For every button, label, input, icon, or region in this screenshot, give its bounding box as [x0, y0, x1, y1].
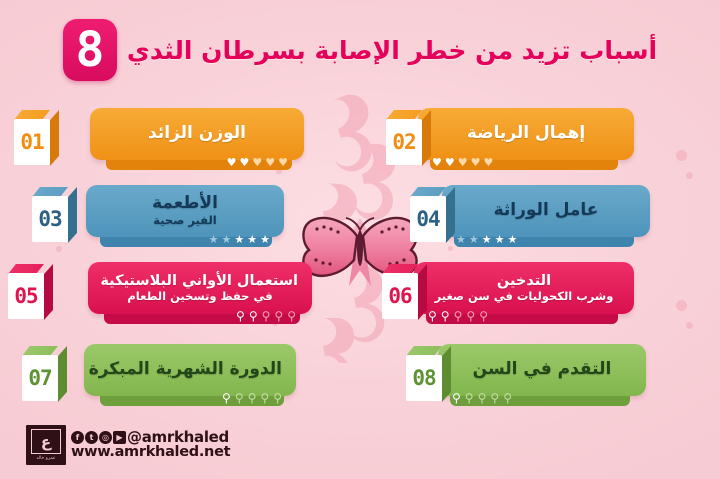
card-number: 02 [386, 119, 422, 165]
card-title: إهمال الرياضة [432, 125, 620, 143]
social-handle[interactable]: @amrkhaled [127, 430, 229, 445]
person-icon: ⚲ [262, 310, 271, 322]
card-banner[interactable]: التقدم في السن [438, 344, 646, 396]
card-slot-07: الدورة الشهرية المبكرة ⚲ ⚲ ⚲ ⚲ ⚲ 07 [0, 340, 360, 412]
card-row-4: التقدم في السن ⚲ ⚲ ⚲ ⚲ ⚲ 08 الدورة الشهر… [0, 340, 720, 412]
card-number: 01 [14, 119, 50, 165]
person-icon: ⚲ [249, 310, 258, 322]
header-number-badge: 8 [63, 19, 117, 81]
instagram-icon[interactable]: ◎ [99, 431, 112, 444]
heart-icon: ♥ [471, 157, 481, 168]
drop-icon: ⚲ [273, 392, 282, 404]
footer-branding: ع عمرو خالد f t ◎ ▶ @amrkhaled www.amrkh… [26, 425, 230, 465]
card-icon-strip: ★ ★ ★ ★ ★ [209, 234, 270, 245]
person-icon: ⚲ [441, 310, 450, 322]
brand-logo: ع عمرو خالد [26, 425, 66, 465]
card-banner[interactable]: إهمال الرياضة [418, 108, 634, 160]
card-slot-08: التقدم في السن ⚲ ⚲ ⚲ ⚲ ⚲ 08 [360, 340, 720, 412]
youtube-icon[interactable]: ▶ [113, 431, 126, 444]
card-title: استعمال الأواني البلاستيكية [102, 274, 298, 289]
card-number: 03 [32, 196, 68, 242]
heart-icon: ♥ [458, 157, 468, 168]
person-icon: ⚲ [236, 310, 245, 322]
card-icon-strip: ★ ★ ★ ★ ★ [456, 234, 517, 245]
drop-icon: ⚲ [222, 392, 231, 404]
card-number: 05 [8, 273, 44, 319]
card-row-1: إهمال الرياضة ♥ ♥ ♥ ♥ ♥ 02 الوزن الزائد [0, 104, 720, 176]
card-icon-strip: ⚲ ⚲ ⚲ ⚲ ⚲ [428, 310, 488, 322]
card-title: التقدم في السن [452, 361, 632, 379]
card-number-cube: 07 [22, 346, 66, 402]
website-url[interactable]: www.amrkhaled.net [71, 445, 230, 460]
page-title: أسباب تزيد من خطر الإصابة بسرطان الثدي [127, 36, 657, 65]
card-icon-strip: ⚲ ⚲ ⚲ ⚲ ⚲ [236, 310, 296, 322]
heart-icon: ♥ [227, 157, 237, 168]
card-slot-06: التدخين وشرب الكحوليات في سن صغير ⚲ ⚲ ⚲ … [360, 258, 720, 330]
card-number-cube: 02 [386, 110, 430, 166]
star-icon: ★ [247, 234, 257, 245]
heart-icon: ♥ [445, 157, 455, 168]
card-number-cube: 03 [32, 187, 76, 243]
star-icon: ★ [508, 234, 518, 245]
card-title: الدورة الشهرية المبكرة [98, 361, 282, 379]
person-icon: ⚲ [274, 310, 283, 322]
heart-icon: ♥ [252, 157, 262, 168]
drop-icon: ⚲ [478, 392, 487, 404]
card-title: الأطعمة [100, 195, 270, 213]
star-icon: ★ [209, 234, 219, 245]
social-handle-row: f t ◎ ▶ @amrkhaled [71, 430, 230, 445]
card-banner[interactable]: التدخين وشرب الكحوليات في سن صغير [414, 262, 634, 314]
card-number: 06 [382, 273, 418, 319]
card-banner[interactable]: الوزن الزائد [90, 108, 304, 160]
card-icon-strip: ♥ ♥ ♥ ♥ ♥ [432, 157, 493, 168]
star-icon: ★ [234, 234, 244, 245]
twitter-icon[interactable]: t [85, 431, 98, 444]
drop-icon: ⚲ [248, 392, 257, 404]
drop-icon: ⚲ [260, 392, 269, 404]
card-title: عامل الوراثة [456, 202, 636, 220]
card-banner[interactable]: عامل الوراثة [442, 185, 650, 237]
card-slot-01: الوزن الزائد ♥ ♥ ♥ ♥ ♥ 01 [0, 104, 360, 176]
star-icon: ★ [495, 234, 505, 245]
card-subtitle: وشرب الكحوليات في سن صغير [428, 290, 620, 303]
star-icon: ★ [260, 234, 270, 245]
star-icon: ★ [222, 234, 232, 245]
heart-icon: ♥ [484, 157, 494, 168]
card-slot-03: الأطعمة الفير صحية ★ ★ ★ ★ ★ 03 [0, 181, 360, 253]
star-icon: ★ [456, 234, 466, 245]
heart-icon: ♥ [240, 157, 250, 168]
logo-caption: عمرو خالد [36, 456, 55, 461]
card-number-cube: 05 [8, 264, 52, 320]
card-number-cube: 08 [406, 346, 450, 402]
heart-icon: ♥ [278, 157, 288, 168]
facebook-icon[interactable]: f [71, 431, 84, 444]
poster-header: أسباب تزيد من خطر الإصابة بسرطان الثدي 8 [0, 14, 720, 86]
person-icon: ⚲ [479, 310, 488, 322]
card-slot-02: إهمال الرياضة ♥ ♥ ♥ ♥ ♥ 02 [360, 104, 720, 176]
star-icon: ★ [469, 234, 479, 245]
card-subtitle: في حفظ وتسخين الطعام [102, 290, 298, 303]
card-number: 08 [406, 355, 442, 401]
card-number-cube: 06 [382, 264, 426, 320]
card-number-cube: 01 [14, 110, 58, 166]
social-block: f t ◎ ▶ @amrkhaled www.amrkhaled.net [71, 430, 230, 460]
card-banner[interactable]: الأطعمة الفير صحية [86, 185, 284, 237]
drop-icon: ⚲ [452, 392, 461, 404]
card-subtitle: الفير صحية [100, 214, 270, 227]
card-banner[interactable]: استعمال الأواني البلاستيكية في حفظ وتسخي… [88, 262, 312, 314]
card-number: 07 [22, 355, 58, 401]
card-number: 04 [410, 196, 446, 242]
logo-glyph: ع [31, 429, 61, 454]
person-icon: ⚲ [454, 310, 463, 322]
infographic-poster: أسباب تزيد من خطر الإصابة بسرطان الثدي 8 [0, 0, 720, 479]
person-icon: ⚲ [428, 310, 437, 322]
drop-icon: ⚲ [235, 392, 244, 404]
drop-icon: ⚲ [490, 392, 499, 404]
heart-icon: ♥ [265, 157, 275, 168]
card-row-3: التدخين وشرب الكحوليات في سن صغير ⚲ ⚲ ⚲ … [0, 258, 720, 330]
person-icon: ⚲ [287, 310, 296, 322]
card-slot-05: استعمال الأواني البلاستيكية في حفظ وتسخي… [0, 258, 360, 330]
drop-icon: ⚲ [503, 392, 512, 404]
card-title: التدخين [428, 274, 620, 289]
card-slot-04: عامل الوراثة ★ ★ ★ ★ ★ 04 [360, 181, 720, 253]
drop-icon: ⚲ [465, 392, 474, 404]
star-icon: ★ [482, 234, 492, 245]
card-number-cube: 04 [410, 187, 454, 243]
card-title: الوزن الزائد [104, 125, 290, 143]
card-icon-strip: ⚲ ⚲ ⚲ ⚲ ⚲ [452, 392, 512, 404]
card-icon-strip: ⚲ ⚲ ⚲ ⚲ ⚲ [222, 392, 282, 404]
heart-icon: ♥ [432, 157, 442, 168]
card-banner[interactable]: الدورة الشهرية المبكرة [84, 344, 296, 396]
card-icon-strip: ♥ ♥ ♥ ♥ ♥ [227, 157, 288, 168]
person-icon: ⚲ [466, 310, 475, 322]
card-row-2: عامل الوراثة ★ ★ ★ ★ ★ 04 الأطعمة الفير … [0, 181, 720, 253]
